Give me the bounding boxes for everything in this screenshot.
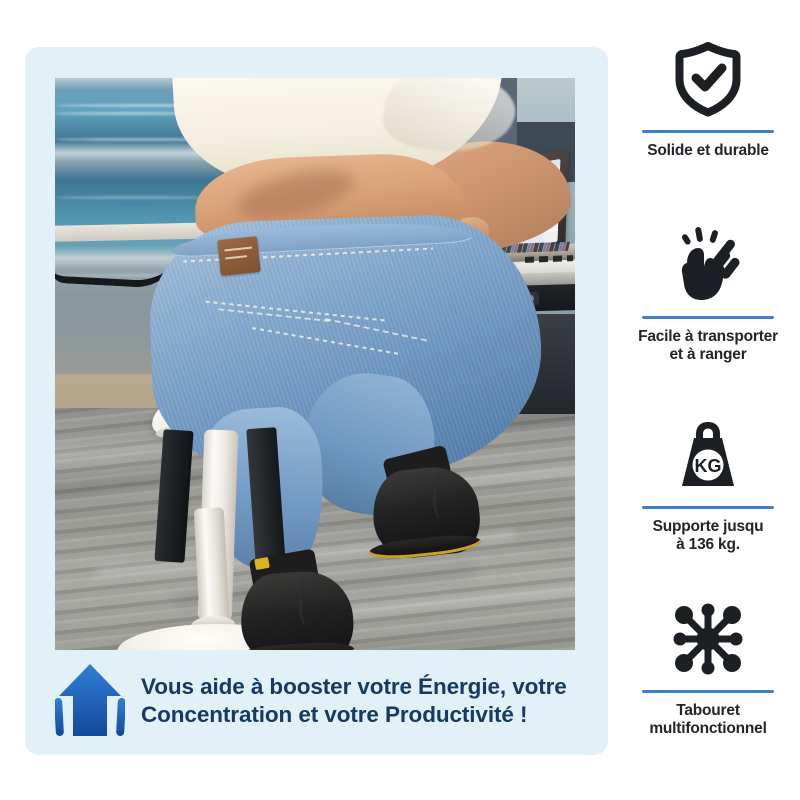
feature-label-line-1: Tabouret: [616, 702, 800, 721]
feature-label: Solide et durable: [616, 142, 800, 161]
network-hub-icon: [668, 600, 748, 678]
weight-kg-icon-wrap: KG: [616, 416, 800, 494]
feature-divider: [642, 690, 774, 693]
feature-label-line-2: et à ranger: [616, 346, 800, 365]
feature-label-line-1: Facile à transporter: [616, 328, 800, 347]
product-photo: [55, 78, 575, 650]
feature-list: Solide et durable: [616, 40, 800, 785]
up-arrow-icon: [55, 662, 125, 740]
caption-text: Vous aide à booster votre Énergie, votre…: [141, 673, 567, 730]
snapping-fingers-icon-wrap: [616, 226, 800, 304]
network-hub-icon-wrap: [616, 600, 800, 678]
feature-solide-et-durable: Solide et durable: [616, 40, 800, 160]
feature-label-line-2: multifonctionnel: [616, 720, 800, 739]
feature-label-line-2: à 136 kg.: [616, 536, 800, 555]
feature-tabouret-multifonctionnel: Tabouret multifonctionnel: [616, 600, 800, 739]
feature-label-line-1: Supporte jusqu: [616, 518, 800, 537]
feature-supporte-jusqua-136-kg: KG Supporte jusqu à 136 kg.: [616, 416, 800, 555]
feature-divider: [642, 130, 774, 133]
caption-line-1: Vous aide à booster votre Énergie, votre: [141, 673, 567, 701]
feature-label: Tabouret multifonctionnel: [616, 702, 800, 740]
feature-divider: [642, 316, 774, 319]
feature-label: Supporte jusqu à 136 kg.: [616, 518, 800, 556]
weight-icon-text: KG: [695, 456, 722, 476]
snapping-fingers-icon: [669, 227, 747, 303]
caption-line-2: Concentration et votre Productivité !: [141, 701, 567, 729]
shield-check-icon: [672, 41, 744, 117]
infographic-root: Vous aide à booster votre Énergie, votre…: [0, 0, 800, 800]
jeans-brand-label: [217, 236, 261, 276]
weight-kg-icon: KG: [670, 418, 746, 492]
feature-facile-a-transporter: Facile à transporter et à ranger: [616, 226, 800, 365]
feature-label: Facile à transporter et à ranger: [616, 328, 800, 366]
caption-banner: Vous aide à booster votre Énergie, votre…: [55, 660, 585, 742]
shield-check-icon-wrap: [616, 40, 800, 118]
feature-divider: [642, 506, 774, 509]
